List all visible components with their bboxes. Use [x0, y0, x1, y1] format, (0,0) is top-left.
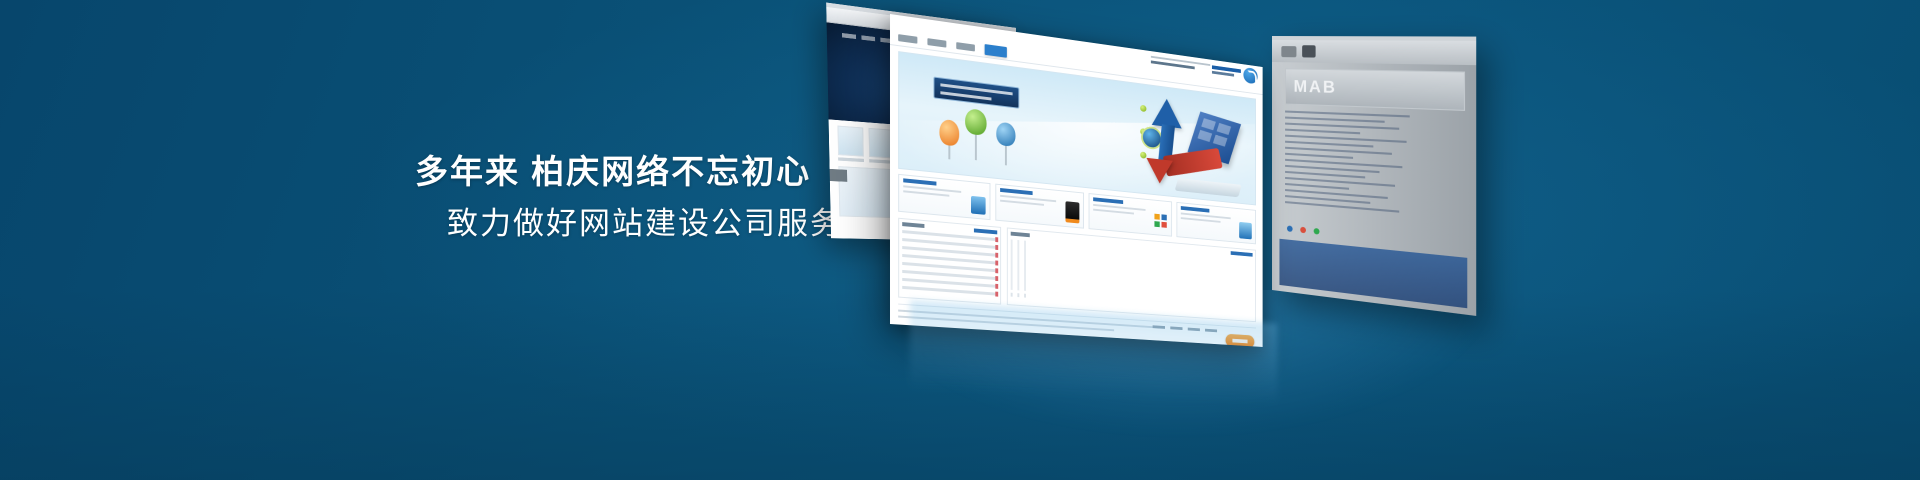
portfolio-item[interactable]: [1011, 239, 1013, 296]
right-status-dots: [1287, 225, 1320, 234]
footer-link[interactable]: [1153, 325, 1165, 329]
brand-logo-mark-icon: [1243, 67, 1257, 84]
green-balloon-icon: [965, 108, 986, 136]
feature-card[interactable]: [1088, 193, 1172, 237]
news-title: [902, 222, 924, 228]
feature-card[interactable]: [996, 184, 1084, 229]
banner-stage: 多年来 柏庆网络不忘初心 致力做好网站建设公司服务: [0, 0, 1920, 480]
right-text-block: [1272, 108, 1476, 219]
feature-card[interactable]: [898, 174, 991, 220]
screenshot-collage: MAB: [820, 0, 1520, 480]
balloon-stem: [975, 135, 977, 161]
right-website-screenshot: MAB: [1272, 36, 1476, 316]
brand-logo: [1212, 63, 1258, 85]
footer-link[interactable]: [1188, 328, 1200, 332]
left-side-tag: [826, 169, 847, 182]
up-arrow-icon: [1152, 97, 1182, 129]
portfolio-item[interactable]: [1024, 241, 1026, 298]
news-panel: [898, 218, 1001, 305]
right-monitor-icon: [1302, 45, 1315, 57]
right-footer-panel: [1279, 239, 1467, 308]
nav-item-3[interactable]: [956, 42, 975, 51]
down-arrow-icon: [1146, 158, 1172, 185]
balloon-stem: [1005, 146, 1007, 166]
nav-item-1[interactable]: [898, 34, 917, 44]
news-item[interactable]: [902, 286, 997, 296]
footer-link[interactable]: [1205, 329, 1217, 333]
header-slogan: [1151, 56, 1210, 74]
document-icon: [971, 196, 986, 215]
tablet-icon: [1239, 222, 1252, 240]
phone-icon: [1065, 201, 1079, 223]
nav-item-4-active[interactable]: [985, 44, 1007, 58]
brand-logo-text: [1212, 65, 1241, 79]
footer-link[interactable]: [1170, 326, 1182, 330]
nav-item-2[interactable]: [927, 38, 946, 47]
footer-link-row: [1153, 325, 1217, 332]
left-product-tile: [837, 126, 863, 163]
feature-card[interactable]: [1176, 202, 1256, 244]
left-nav-item: [842, 32, 856, 38]
contact-button[interactable]: [1226, 334, 1255, 347]
portfolio-item[interactable]: [1017, 240, 1019, 297]
right-brand-text: MAB: [1285, 68, 1465, 111]
right-badge-icon: [1281, 46, 1296, 57]
right-top-bar: [1272, 40, 1476, 65]
portfolio-panel: [1007, 227, 1256, 322]
left-nav-item: [861, 35, 875, 41]
news-more-link[interactable]: [974, 228, 997, 234]
portfolio-more-link[interactable]: [1231, 251, 1253, 257]
hero-caption-box: [933, 77, 1019, 109]
news-list: [902, 230, 997, 296]
center-website-screenshot: [890, 14, 1263, 347]
balloon-stem: [948, 145, 950, 159]
portfolio-title: [1011, 232, 1030, 238]
grid-icon: [1154, 214, 1167, 232]
